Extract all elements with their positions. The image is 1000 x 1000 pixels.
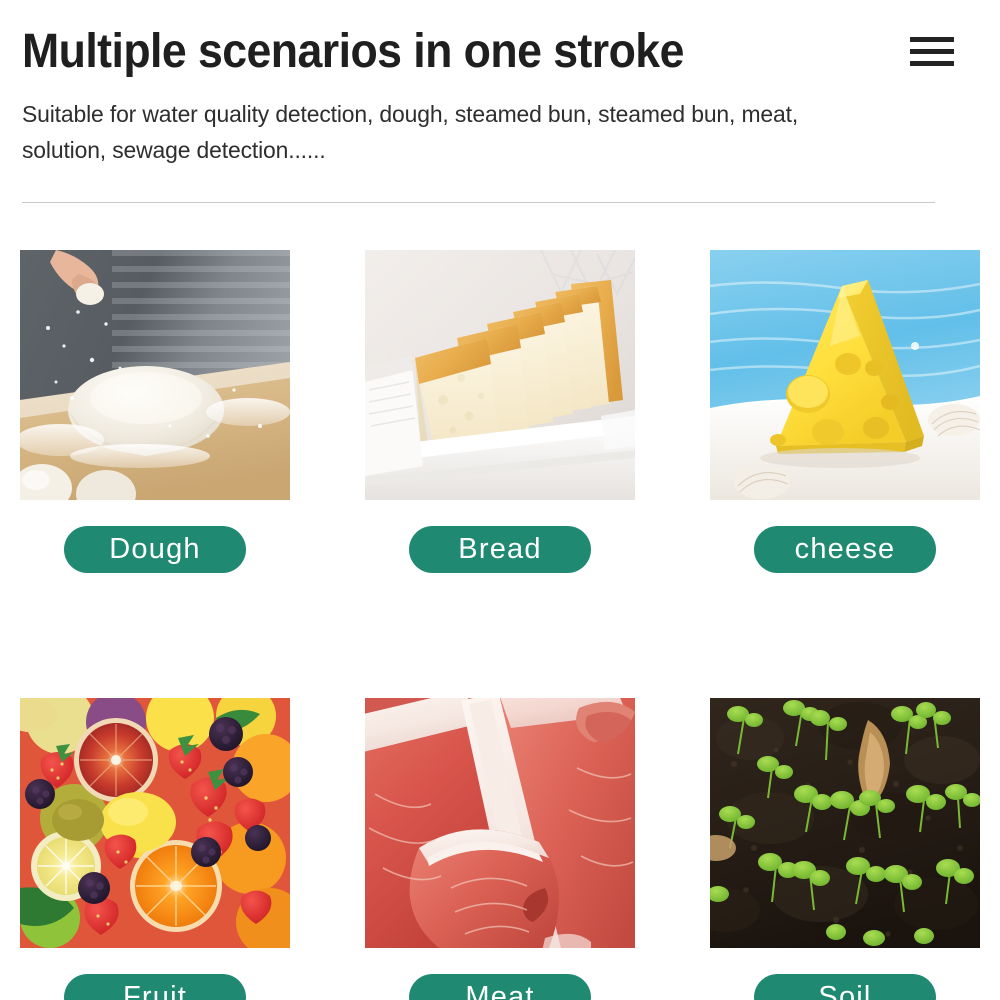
title-row: Multiple scenarios in one stroke: [22, 24, 978, 80]
scenario-grid: Dough: [20, 250, 980, 1000]
hamburger-bar-top: [910, 37, 954, 42]
meat-photo: [365, 698, 635, 948]
fruit-label-wrap: Fruit: [20, 974, 290, 1000]
scenario-card-dough[interactable]: Dough: [20, 250, 290, 573]
page-header: Multiple scenarios in one stroke Suitabl…: [22, 24, 978, 169]
cheese-photo: [710, 250, 980, 500]
scenario-label-dough[interactable]: Dough: [64, 526, 246, 573]
scenario-label-fruit[interactable]: Fruit: [64, 974, 246, 1000]
hamburger-menu-icon[interactable]: [910, 35, 956, 69]
page-subtitle: Suitable for water quality detection, do…: [22, 96, 880, 169]
scenario-card-cheese[interactable]: cheese: [710, 250, 980, 573]
header-divider: [22, 202, 935, 203]
scenario-card-soil[interactable]: Soil: [710, 698, 980, 1000]
scenario-card-bread[interactable]: Bread: [365, 250, 635, 573]
page-title: Multiple scenarios in one stroke: [22, 24, 684, 80]
hamburger-bar-middle: [910, 49, 954, 54]
meat-label-wrap: Meat: [365, 974, 635, 1000]
fruit-photo: [20, 698, 290, 948]
bread-label-wrap: Bread: [365, 526, 635, 573]
soil-photo: [710, 698, 980, 948]
scenario-label-soil[interactable]: Soil: [754, 974, 936, 1000]
scenario-label-cheese[interactable]: cheese: [754, 526, 936, 573]
hamburger-bar-bottom: [910, 61, 954, 66]
dough-photo: [20, 250, 290, 500]
scenario-card-fruit[interactable]: Fruit: [20, 698, 290, 1000]
soil-label-wrap: Soil: [710, 974, 980, 1000]
cheese-label-wrap: cheese: [710, 526, 980, 573]
scenario-label-meat[interactable]: Meat: [409, 974, 591, 1000]
bread-photo: [365, 250, 635, 500]
scenario-label-bread[interactable]: Bread: [409, 526, 591, 573]
dough-label-wrap: Dough: [20, 526, 290, 573]
scenarios-page: Multiple scenarios in one stroke Suitabl…: [0, 0, 1000, 1000]
scenario-card-meat[interactable]: Meat: [365, 698, 635, 1000]
